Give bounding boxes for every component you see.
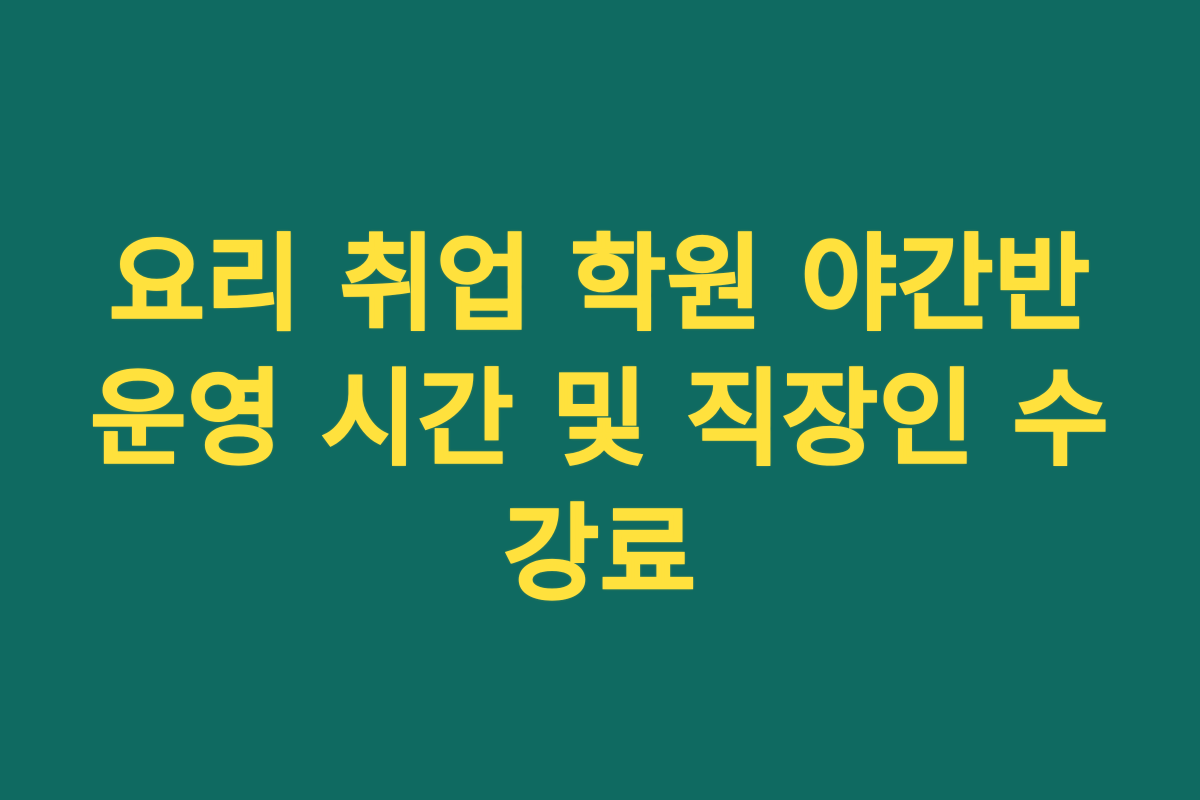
title-line-1: 요리 취업 학원 야간반 (76, 217, 1124, 352)
title-line-2: 운영 시간 및 직장인 수 (76, 352, 1124, 487)
page-title: 요리 취업 학원 야간반 운영 시간 및 직장인 수 강료 (70, 217, 1130, 622)
banner-canvas: 요리 취업 학원 야간반 운영 시간 및 직장인 수 강료 (0, 0, 1200, 800)
title-line-3: 강료 (76, 487, 1124, 622)
